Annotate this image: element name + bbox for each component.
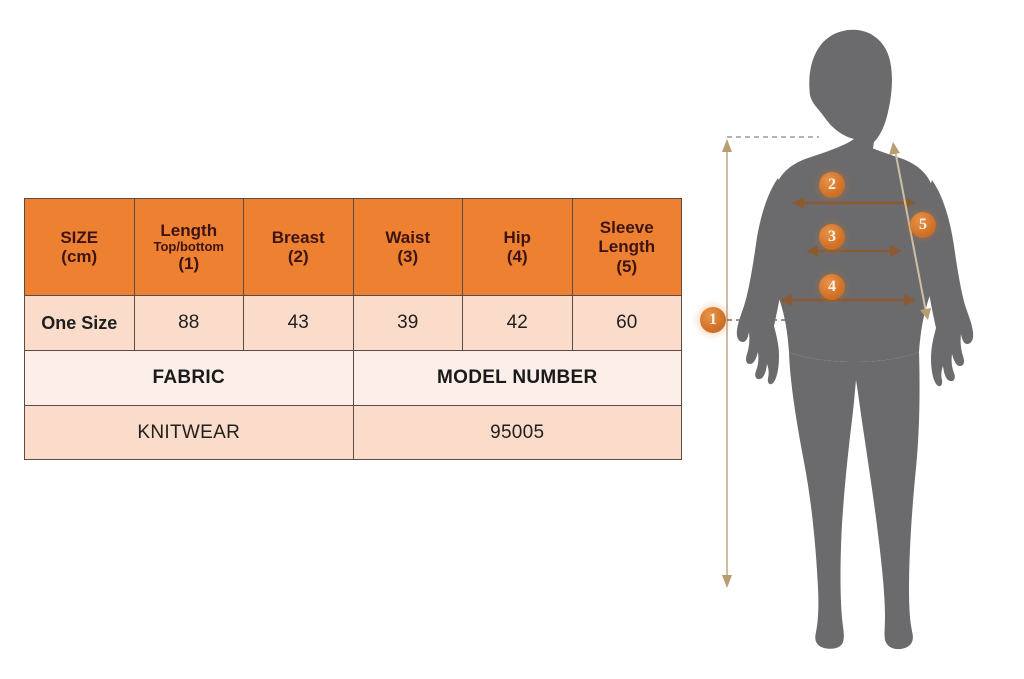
header-waist-label: Waist — [354, 228, 463, 247]
table-header-row: SIZE (cm) Length Top/bottom (1) Breast (… — [25, 199, 682, 296]
callout-badge-3: 3 — [819, 224, 845, 250]
size-chart-table: SIZE (cm) Length Top/bottom (1) Breast (… — [24, 198, 682, 460]
header-length-num: (1) — [135, 254, 244, 273]
header-waist-num: (3) — [354, 247, 463, 266]
header-cell-waist: Waist (3) — [353, 199, 463, 296]
header-length-label: Length — [135, 221, 244, 240]
body-silhouette-icon — [737, 30, 973, 649]
header-cell-length: Length Top/bottom (1) — [134, 199, 244, 296]
cell-waist-value: 39 — [353, 296, 463, 351]
callout-badge-5: 5 — [910, 212, 936, 238]
header-size-unit: (cm) — [25, 247, 134, 266]
header-cell-sleeve: SleeveLength (5) — [572, 199, 682, 296]
callout-badge-1: 1 — [700, 307, 726, 333]
header-cell-hip: Hip (4) — [463, 199, 573, 296]
cell-model-value: 95005 — [353, 406, 682, 460]
header-sleeve-label: SleeveLength — [573, 218, 682, 256]
cell-fabric-value: KNITWEAR — [25, 406, 354, 460]
measurement-figure: 1 2 3 4 5 — [686, 0, 1024, 679]
header-size-label: SIZE — [25, 228, 134, 247]
cell-breast-value: 43 — [244, 296, 354, 351]
table-footer-label-row: FABRIC MODEL NUMBER — [25, 351, 682, 406]
header-hip-num: (4) — [463, 247, 572, 266]
cell-size-value: One Size — [25, 296, 135, 351]
cell-hip-value: 42 — [463, 296, 573, 351]
callout-badge-2: 2 — [819, 172, 845, 198]
cell-model-label: MODEL NUMBER — [353, 351, 682, 406]
cell-fabric-label: FABRIC — [25, 351, 354, 406]
table-row: One Size 88 43 39 42 60 — [25, 296, 682, 351]
female-silhouette-diagram — [686, 0, 1024, 679]
header-breast-num: (2) — [244, 247, 353, 266]
header-sleeve-num: (5) — [573, 257, 682, 276]
size-chart-canvas: SIZE (cm) Length Top/bottom (1) Breast (… — [0, 0, 1024, 679]
cell-sleeve-value: 60 — [572, 296, 682, 351]
header-breast-label: Breast — [244, 228, 353, 247]
header-cell-breast: Breast (2) — [244, 199, 354, 296]
header-hip-label: Hip — [463, 228, 572, 247]
header-cell-size: SIZE (cm) — [25, 199, 135, 296]
header-length-sub: Top/bottom — [135, 240, 244, 255]
callout-badge-4: 4 — [819, 274, 845, 300]
table-footer-value-row: KNITWEAR 95005 — [25, 406, 682, 460]
cell-length-value: 88 — [134, 296, 244, 351]
